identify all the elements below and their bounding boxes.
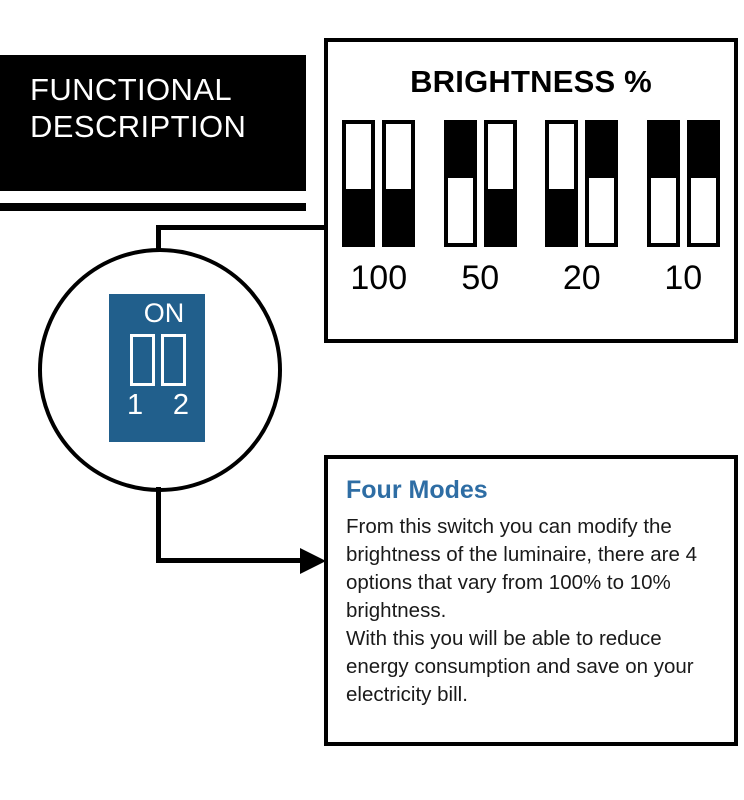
switch-group-label: 10 — [664, 261, 702, 295]
switch-pair — [647, 120, 720, 247]
dip-number-2: 2 — [173, 391, 189, 420]
title-block: FUNCTIONAL DESCRIPTION — [0, 55, 306, 191]
description-paragraph-2: With this you will be able to reduce ene… — [346, 625, 720, 709]
switch-pair — [342, 120, 415, 247]
description-heading: Four Modes — [346, 475, 720, 505]
switch-pair — [545, 120, 618, 247]
dip-switch-groups: 100 50 20 10 — [328, 120, 734, 295]
dip-slot-1[interactable] — [130, 334, 155, 386]
switch-pair — [444, 120, 517, 247]
switch-group-label: 100 — [350, 261, 407, 295]
dip-lever — [549, 189, 574, 243]
dip-lever — [691, 124, 716, 178]
dip-switch-1[interactable] — [545, 120, 578, 247]
brightness-panel-title: BRIGHTNESS % — [328, 64, 734, 100]
dip-slot-2[interactable] — [161, 334, 186, 386]
switch-group-20: 20 — [539, 120, 625, 295]
dip-switch-2[interactable] — [382, 120, 415, 247]
dip-switch-2[interactable] — [687, 120, 720, 247]
switch-group-10: 10 — [640, 120, 726, 295]
connector-line-bottom-vertical — [156, 487, 161, 563]
dip-on-label: ON — [109, 300, 205, 327]
dip-number-labels: 1 2 — [127, 391, 189, 420]
dip-lever — [448, 124, 473, 178]
dip-lever — [488, 189, 513, 243]
dip-lever — [589, 124, 614, 178]
dip-lever — [651, 124, 676, 178]
arrow-head-icon — [300, 548, 326, 574]
dip-number-1: 1 — [127, 391, 143, 420]
dip-switch-2[interactable] — [585, 120, 618, 247]
switch-group-label: 20 — [563, 261, 601, 295]
title-line-2: DESCRIPTION — [30, 108, 306, 145]
switch-group-label: 50 — [461, 261, 499, 295]
dip-slot-group — [130, 334, 186, 386]
switch-group-100: 100 — [336, 120, 422, 295]
dip-switch-component[interactable]: ON 1 2 — [109, 294, 205, 442]
brightness-panel: BRIGHTNESS % 100 50 20 — [324, 38, 738, 343]
dip-lever — [346, 189, 371, 243]
connector-line-top-horizontal — [156, 225, 328, 230]
title-divider-rule — [0, 203, 306, 211]
switch-group-50: 50 — [437, 120, 523, 295]
connector-line-bottom-horizontal — [156, 558, 306, 563]
description-body: From this switch you can modify the brig… — [346, 513, 720, 709]
title-line-1: FUNCTIONAL — [30, 71, 306, 108]
dip-switch-2[interactable] — [484, 120, 517, 247]
description-box: Four Modes From this switch you can modi… — [324, 455, 738, 746]
dip-switch-1[interactable] — [647, 120, 680, 247]
dip-switch-1[interactable] — [342, 120, 375, 247]
dip-lever — [386, 189, 411, 243]
description-paragraph-1: From this switch you can modify the brig… — [346, 513, 720, 625]
dip-switch-1[interactable] — [444, 120, 477, 247]
